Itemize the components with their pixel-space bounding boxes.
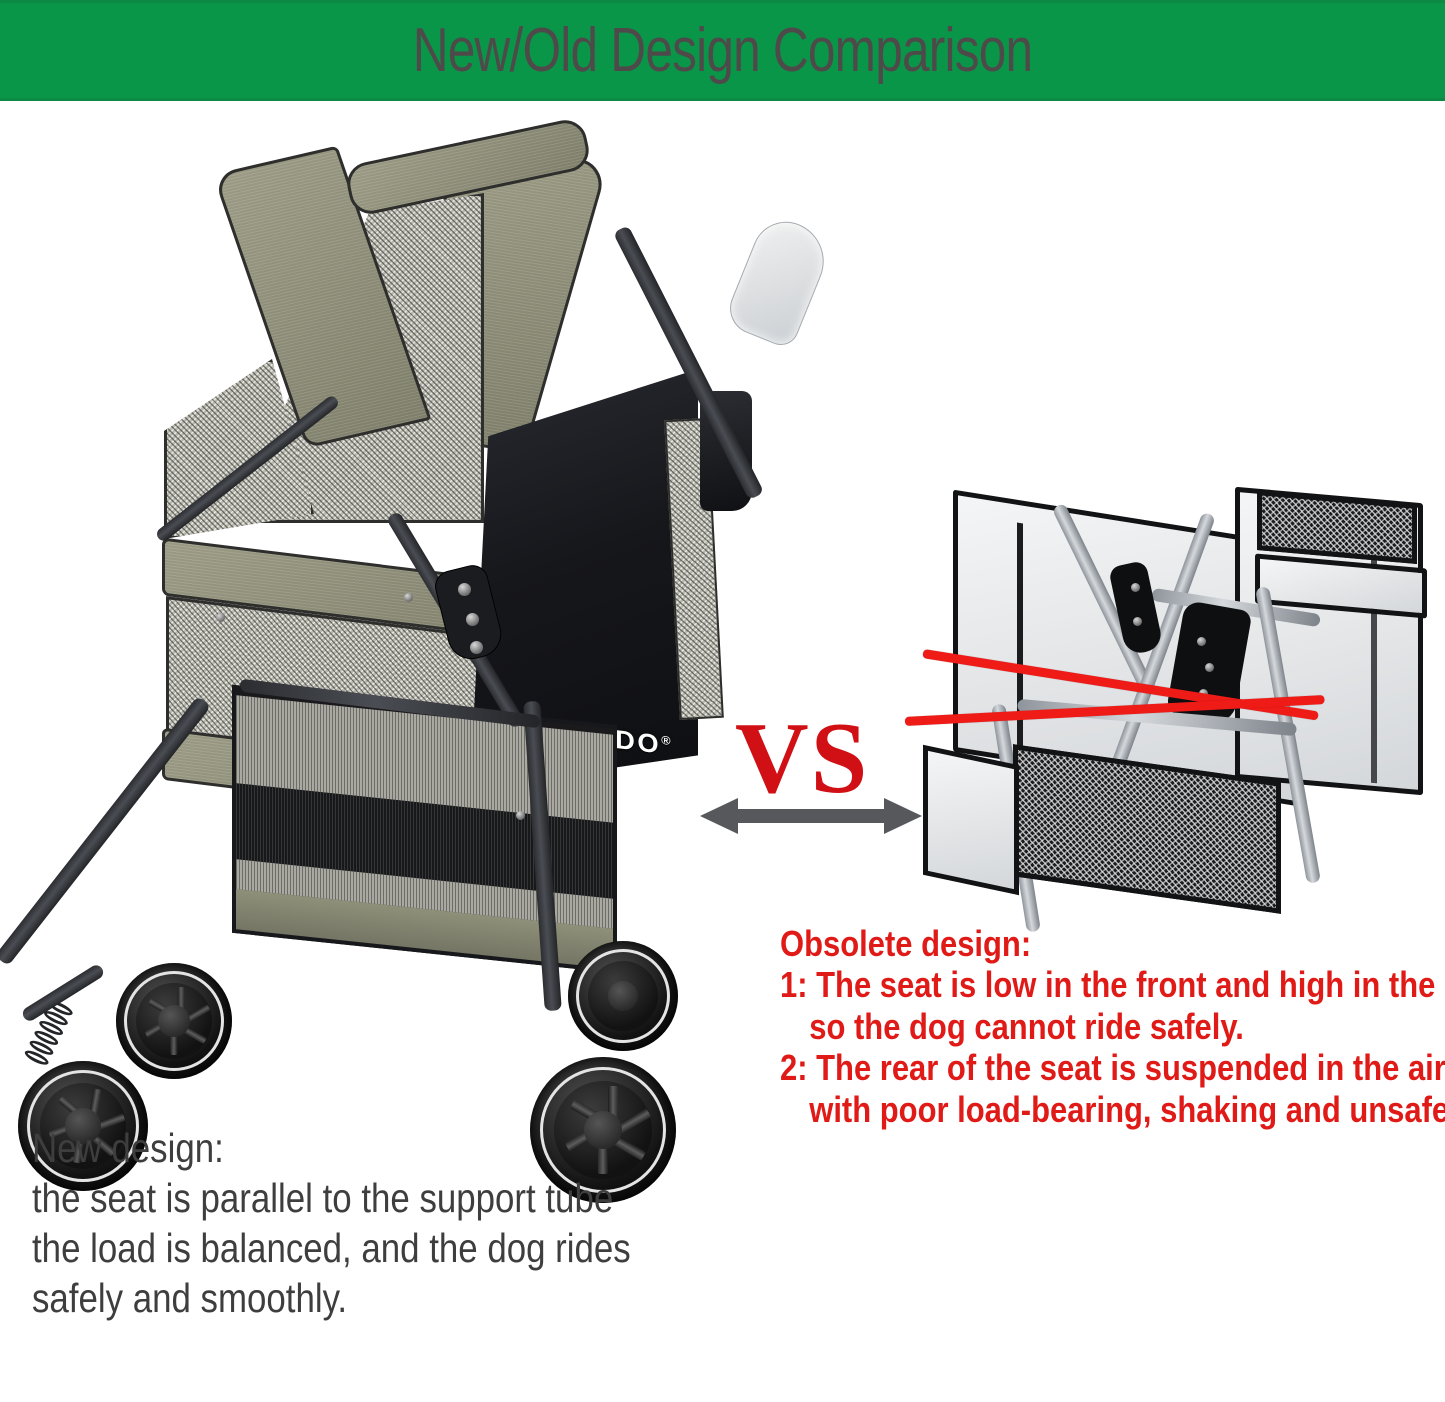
arrow-shaft <box>734 809 888 823</box>
hinge-rivet <box>470 641 483 654</box>
old-panel-trim <box>1017 523 1023 772</box>
vs-label: VS <box>735 708 869 810</box>
old-latch-rivet <box>1205 663 1214 672</box>
registered-mark: ® <box>661 733 670 748</box>
old-latch-rivet <box>1197 637 1206 646</box>
comparison-stage: ROODO® ROODO <box>0 101 1445 1402</box>
old-caption-heading: Obsolete design: <box>780 923 1348 964</box>
old-joint-rivet <box>1133 617 1142 626</box>
frame-rivet <box>516 811 525 820</box>
storage-basket <box>232 685 617 973</box>
page-title: New/Old Design Comparison <box>145 3 1301 98</box>
old-basket-side-flap <box>923 745 1019 895</box>
arrow-head-left <box>700 798 738 834</box>
old-caption-line: 2: The rear of the seat is suspended in … <box>780 1047 1348 1088</box>
header-banner: New/Old Design Comparison <box>0 0 1445 101</box>
old-caption-line: with poor load-bearing, shaking and unsa… <box>780 1089 1348 1130</box>
hinge-rivet <box>466 613 479 626</box>
old-caption-line: so the dog cannot ride safely. <box>780 1006 1348 1047</box>
rear-wheel-far <box>568 941 678 1051</box>
front-wheel-rear <box>116 963 232 1079</box>
old-joint-rivet <box>1131 583 1140 592</box>
obsolete-design-stroller-image <box>905 411 1445 931</box>
canopy-snap-rivet <box>404 593 413 602</box>
hinge-rivet <box>458 583 471 596</box>
new-caption-heading: New design: <box>32 1123 661 1173</box>
new-caption-line: the seat is parallel to the support tube <box>32 1173 661 1223</box>
new-caption-line: the load is balanced, and the dog rides <box>32 1223 661 1273</box>
new-design-stroller-image: ROODO® ROODO <box>0 101 740 1131</box>
front-leg-tube <box>0 696 211 967</box>
canopy-snap-rivet <box>216 613 225 622</box>
old-caption-line: 1: The seat is low in the front and high… <box>780 964 1348 1005</box>
new-caption-line: safely and smoothly. <box>32 1273 661 1323</box>
handle-protective-wrap <box>722 212 836 351</box>
obsolete-design-caption: Obsolete design: 1: The seat is low in t… <box>780 923 1348 1130</box>
new-design-caption: New design: the seat is parallel to the … <box>32 1123 661 1323</box>
comparison-arrow-icon <box>700 798 922 834</box>
